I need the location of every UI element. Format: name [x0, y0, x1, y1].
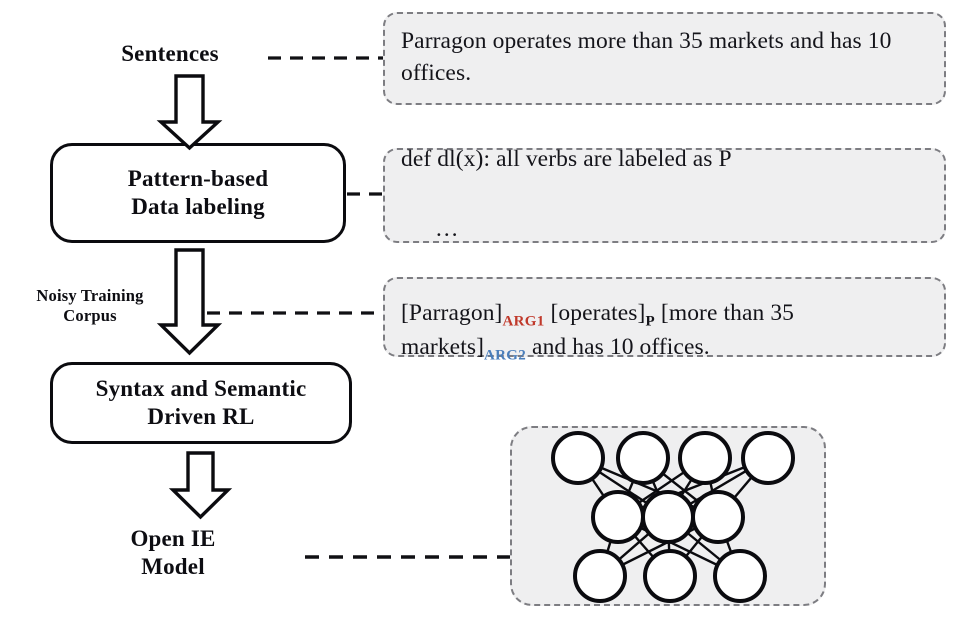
stage-label-noisy-training-corpus: Noisy Training Corpus	[0, 286, 180, 326]
note-box-sentence-example: Parragon operates more than 35 markets a…	[383, 12, 946, 105]
labeled-arg2-subscript: ARG2	[484, 347, 526, 363]
labeled-arg2-span-part2: markets]	[401, 334, 484, 360]
note-pattern-line-1: def dl(x): all verbs are labeled as P	[401, 142, 732, 177]
neural-network-panel	[510, 426, 826, 606]
arrow-rl-to-model	[173, 453, 228, 517]
stage-label-sentences: Sentences	[60, 40, 280, 67]
note-pattern-line-2: …	[401, 212, 732, 247]
process-box-syntax-and-semantic-driven-rl[interactable]: Syntax and Semantic Driven RL	[50, 362, 352, 444]
process-box-pattern-label: Pattern-based Data labeling	[128, 165, 269, 220]
labeled-tail-span: and has 10 offices.	[526, 334, 710, 360]
note-box-labeled-example: [Parragon]ARG1 [operates]P [more than 35…	[383, 277, 946, 357]
stage-label-open-ie-model: Open IE Model	[58, 525, 288, 580]
labeled-predicate-span: [operates]	[545, 300, 646, 326]
process-box-pattern-based-data-labeling[interactable]: Pattern-based Data labeling	[50, 143, 346, 243]
arrow-sentences-to-pattern	[161, 76, 218, 148]
diagram-canvas: Sentences Pattern-based Data labeling No…	[0, 0, 972, 617]
note-pattern-text: def dl(x): all verbs are labeled as P …	[401, 106, 732, 282]
note-labeled-text: [Parragon]ARG1 [operates]P [more than 35…	[401, 266, 794, 365]
note-sentence-text: Parragon operates more than 35 markets a…	[401, 26, 930, 89]
process-box-rl-label: Syntax and Semantic Driven RL	[96, 375, 307, 430]
labeled-predicate-subscript: P	[645, 314, 654, 330]
labeled-arg1-span: [Parragon]	[401, 300, 502, 326]
labeled-arg1-subscript: ARG1	[502, 314, 544, 330]
note-box-pattern-code: def dl(x): all verbs are labeled as P …	[383, 148, 946, 243]
labeled-arg2-span-part1: [more than 35	[655, 300, 794, 326]
